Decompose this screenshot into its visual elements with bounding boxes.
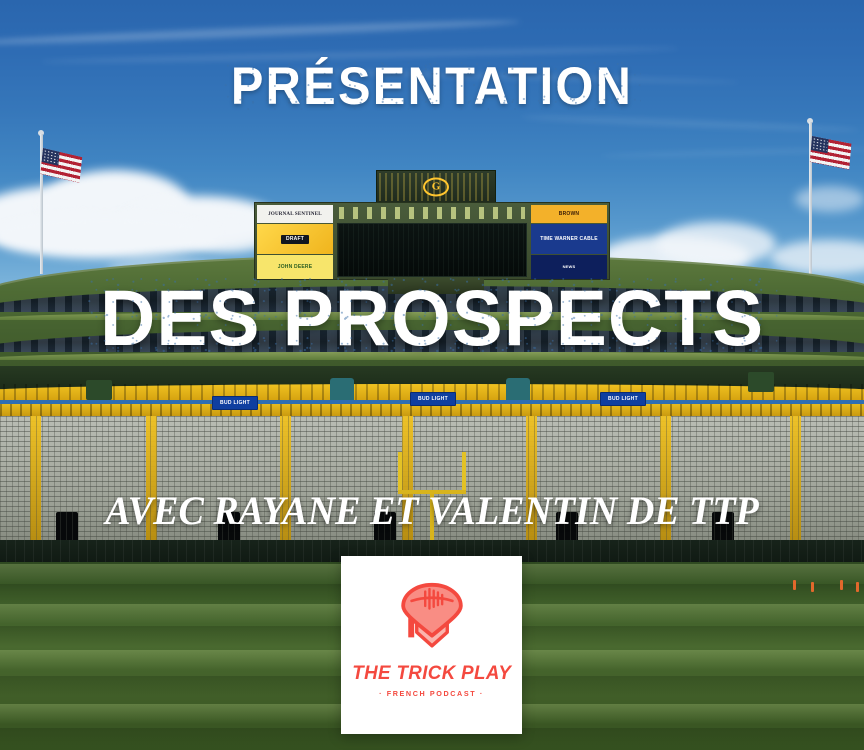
scoreboard-video-screen bbox=[337, 223, 527, 277]
ad-time-warner-cable: TIME WARNER CABLE bbox=[531, 224, 607, 254]
headline-top: PRÉSENTATION bbox=[35, 60, 830, 113]
packers-g-logo: G bbox=[423, 178, 449, 197]
bud-light-sign: BUD LIGHT bbox=[410, 392, 456, 406]
field-pylon bbox=[811, 582, 814, 592]
field-pylon bbox=[856, 582, 859, 592]
cloud bbox=[770, 240, 864, 274]
bud-light-sign: BUD LIGHT bbox=[212, 396, 258, 410]
scoreboard-left-ads: JOURNAL SENTINEL DRAFT JOHN DEERE bbox=[257, 205, 333, 279]
press-box bbox=[86, 380, 112, 400]
field-pylon bbox=[840, 580, 843, 590]
scoreboard-led-strip bbox=[339, 207, 525, 219]
headline-main: DES PROSPECTS bbox=[13, 278, 851, 357]
subline: AVEC RAYANE ET VALENTIN DE TTP bbox=[22, 491, 843, 531]
poster-canvas: G JOURNAL SENTINEL DRAFT JOHN DEERE BROW… bbox=[0, 0, 864, 750]
goalpost-upright-right bbox=[462, 452, 466, 492]
ad-journal-sentinel: JOURNAL SENTINEL bbox=[257, 205, 333, 223]
football-graduation-cap-mark bbox=[389, 578, 475, 656]
ad-brown: BROWN bbox=[531, 205, 607, 223]
field-pylon bbox=[793, 580, 796, 590]
cloud bbox=[795, 186, 864, 212]
scoreboard-body: JOURNAL SENTINEL DRAFT JOHN DEERE BROWN … bbox=[254, 202, 610, 280]
press-box bbox=[748, 372, 774, 392]
ad-draft: DRAFT bbox=[257, 224, 333, 254]
cloud bbox=[656, 222, 776, 266]
camera-platform bbox=[330, 378, 354, 400]
scoreboard: G JOURNAL SENTINEL DRAFT JOHN DEERE BROW… bbox=[248, 170, 616, 280]
logo-subtitle: · FRENCH PODCAST · bbox=[379, 690, 484, 697]
scoreboard-crown: G bbox=[376, 170, 496, 204]
logo-title: THE TRICK PLAY bbox=[352, 664, 511, 684]
camera-platform bbox=[506, 378, 530, 400]
bud-light-sign: BUD LIGHT bbox=[600, 392, 646, 406]
headline-main-text: DES PROSPECTS bbox=[100, 278, 764, 357]
headline-top-text: PRÉSENTATION bbox=[231, 60, 633, 113]
subline-text: AVEC RAYANE ET VALENTIN DE TTP bbox=[105, 488, 758, 533]
cloud-wisp bbox=[0, 17, 520, 47]
goalpost-upright-left bbox=[398, 452, 402, 492]
scoreboard-right-ads: BROWN TIME WARNER CABLE NEWS bbox=[531, 205, 607, 279]
podcast-logo-card[interactable]: THE TRICK PLAY · FRENCH PODCAST · bbox=[341, 556, 522, 734]
